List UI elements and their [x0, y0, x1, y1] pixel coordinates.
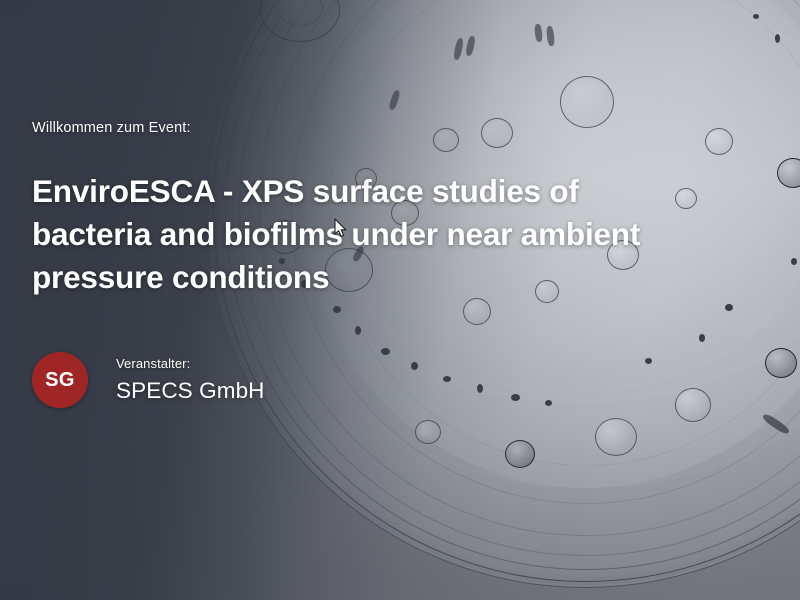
banner-content: Willkommen zum Event: EnviroESCA - XPS s…: [32, 0, 732, 600]
event-banner: Willkommen zum Event: EnviroESCA - XPS s…: [0, 0, 800, 600]
avatar-initials: SG: [45, 369, 75, 392]
event-title: EnviroESCA - XPS surface studies of bact…: [32, 170, 704, 299]
welcome-kicker: Willkommen zum Event:: [32, 120, 191, 136]
organizer-text: Veranstalter: SPECS GmbH: [116, 356, 265, 404]
organizer-label: Veranstalter:: [116, 356, 265, 372]
organizer-block: SG Veranstalter: SPECS GmbH: [32, 352, 265, 408]
organizer-avatar[interactable]: SG: [32, 352, 88, 408]
organizer-name[interactable]: SPECS GmbH: [116, 377, 265, 404]
